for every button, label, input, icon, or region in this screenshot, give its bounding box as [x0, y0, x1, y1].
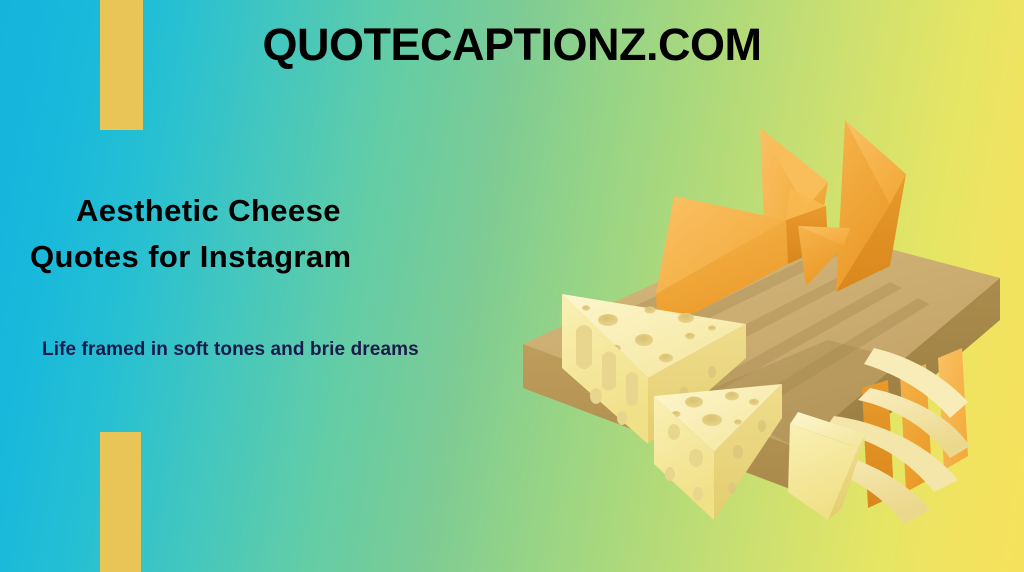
headline-line-1: Aesthetic Cheese: [30, 188, 500, 234]
accent-bar-bottom: [100, 432, 141, 572]
headline: Aesthetic Cheese Quotes for Instagram: [30, 188, 500, 280]
cheese-board-illustration: [498, 96, 1018, 572]
headline-line-2: Quotes for Instagram: [30, 234, 500, 280]
subtitle: Life framed in soft tones and brie dream…: [42, 334, 502, 365]
banner-canvas: QUOTECAPTIONZ.COM Aesthetic Cheese Quote…: [0, 0, 1024, 572]
site-title: QUOTECAPTIONZ.COM: [0, 22, 1024, 67]
cheese-board-svg: [498, 96, 1018, 572]
